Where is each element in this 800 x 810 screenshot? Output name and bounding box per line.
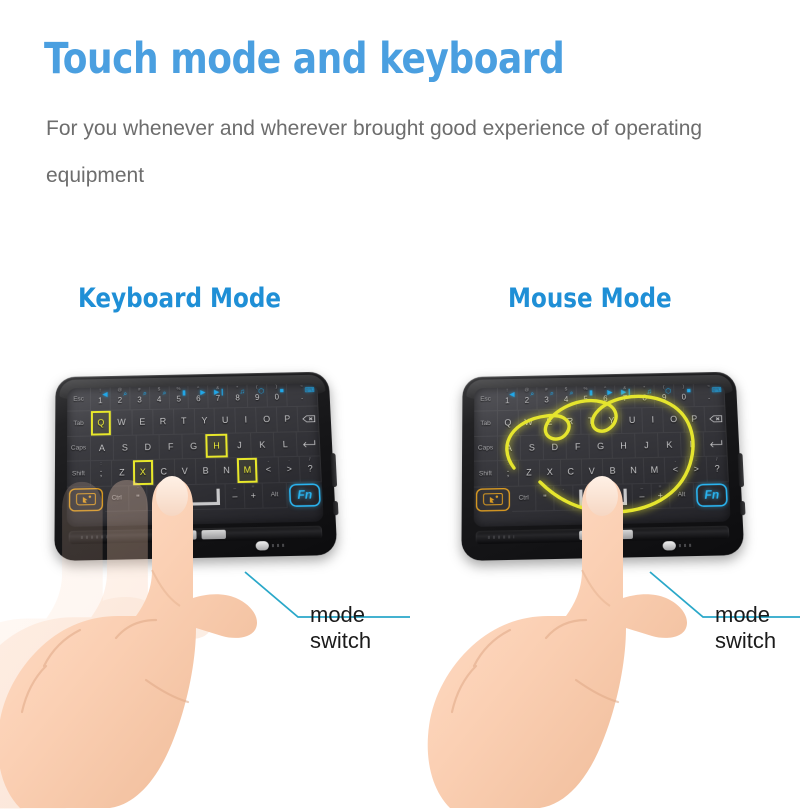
key-8[interactable]: *♫8 [635,385,655,409]
key-sup-label: _ [640,485,643,490]
key-space[interactable] [573,484,634,511]
key-l[interactable]: L [274,432,298,458]
key-o[interactable]: O [256,407,278,432]
keypad-surface[interactable]: Esc!◀1@⌕2#⌕3$⌕4%▮5^▶6&▶❙7*♫8(⬡9)■0~⌨.Tab… [474,383,731,527]
key-fn[interactable]: Fn [289,483,321,506]
key-z[interactable]: Z [112,460,133,486]
key-label: H [213,441,220,451]
key-ctrl[interactable]: Ctrl [512,486,536,512]
key-label: Z [119,468,125,478]
key-function-icon: ⌕ [530,391,534,398]
key-function-icon: ⌨ [305,387,315,394]
key-function-icon: ⌕ [162,390,166,397]
key--[interactable]: .> [686,457,708,483]
key-label: T [181,416,187,426]
key-r[interactable]: R [560,409,581,434]
key-sup-label: : [507,462,508,467]
key-sup-label: ) [683,385,685,389]
key-u[interactable]: U [215,408,236,433]
key-label: Fn [297,488,312,502]
key-1[interactable]: !◀1 [91,388,111,412]
key-label: 0 [681,393,686,402]
key-label: D [144,442,151,452]
keyboard-row-bottom-row: Ctrl'",._–=+AltFn [474,482,730,513]
key-label: Esc [480,396,491,403]
key--[interactable]: ~⌨. [287,383,319,407]
key-7[interactable]: &▶❙7 [615,385,635,409]
key-sup-label: ~ [707,385,710,389]
key-sup-label: * [643,386,645,390]
key-label: ? [307,464,312,474]
key-sup-label: , [156,486,157,491]
key-label: B [203,466,209,476]
key-sup-label: $ [158,387,161,391]
key-label: M [651,465,659,475]
key-backspace[interactable] [298,406,320,431]
key-w[interactable]: W [112,410,133,435]
key-sup-label: / [309,458,310,463]
callout-line-2: switch [715,628,776,654]
section-heading-keyboard-mode: Keyboard Mode [78,283,281,314]
key-label: R [567,417,574,427]
key-backspace[interactable] [705,406,727,431]
key-label: 5 [176,395,181,404]
key-label: E [546,417,552,427]
key-function-icon: ▮ [182,390,186,397]
key-y[interactable]: Y [601,409,622,434]
key-label: Z [526,468,532,478]
mode-switch-button[interactable] [663,541,677,550]
side-button-lower[interactable] [740,501,746,515]
key-function-icon: ◀ [509,391,514,398]
key-label: D [551,442,558,452]
key-shift[interactable]: Shift [474,461,498,487]
side-button-upper[interactable] [737,453,744,487]
left-click-button[interactable] [579,530,604,540]
key-enter[interactable] [297,431,321,457]
key--[interactable]: '" [536,485,555,511]
key--[interactable]: /? [300,456,322,482]
key-x[interactable]: X [540,460,561,486]
page-subtitle: For you whenever and wherever brought go… [46,105,746,199]
key-label: 3 [137,396,141,405]
key-sup-label: % [584,387,588,392]
key-sup-label: @ [524,388,529,393]
key-label: G [597,441,604,451]
key-u[interactable]: U [622,408,643,433]
key-g[interactable]: G [182,434,205,460]
key-label: O [670,415,677,425]
key--[interactable]: =+ [244,483,263,509]
key-k[interactable]: K [251,432,275,458]
key-label: G [190,441,197,451]
key-label: 4 [564,395,569,404]
key-label: W [524,417,532,427]
key-alt[interactable]: Alt [263,483,288,509]
key-sup-label: , [267,458,268,463]
key-label: . [708,392,711,401]
key-label: S [122,442,128,452]
key-label: 7 [623,394,628,403]
key-caps[interactable]: Caps [67,436,91,462]
key-4[interactable]: $⌕4 [150,386,170,410]
key-label: 7 [216,394,221,403]
key-t[interactable]: T [581,409,602,434]
key-s[interactable]: S [521,435,544,461]
key-h[interactable]: H [205,433,229,459]
key-f[interactable]: F [160,434,183,460]
key-function-icon: ■ [280,388,284,395]
key-k[interactable]: K [658,432,682,458]
key-space[interactable] [166,484,227,511]
key-sup-label: ' [137,487,138,492]
key-label: " [543,493,546,503]
page-title: Touch mode and keyboard [44,34,564,84]
key-2[interactable]: @⌕2 [110,387,130,411]
key-label: – [232,491,237,501]
product-infographic: Touch mode and keyboard For you whenever… [0,0,800,800]
key-function-icon: ⌨ [712,387,722,394]
key-sup-label: = [252,484,255,489]
key-label: V [182,466,188,476]
key-tab[interactable]: Tab [474,411,498,436]
mode-switch-button[interactable] [256,541,270,550]
key-sup-label: # [545,388,548,392]
key-label: S [529,442,535,452]
key-label: > [693,464,699,474]
key-function-icon: ⌕ [569,390,573,397]
key-label: 8 [642,394,647,403]
key-label: H [620,441,627,451]
key-sup-label: ! [100,389,101,393]
key-label: Esc [73,396,84,403]
side-button-upper[interactable] [330,453,337,487]
key-d[interactable]: D [544,435,567,461]
key-label: ; [100,468,103,478]
key-function-icon: ▶ [200,389,205,396]
key-sup-label: $ [565,387,568,391]
key-label: + [250,490,256,500]
key--[interactable]: :; [498,461,519,487]
key-label: + [657,490,663,500]
key-function-icon: ♫ [239,389,244,396]
key-label: C [567,467,574,477]
key-label: I [244,415,247,425]
key-0[interactable]: )■0 [674,384,694,408]
key-ctrl[interactable]: Ctrl [105,486,129,512]
key-sup-label: ~ [300,385,303,389]
key--[interactable]: '" [129,485,148,511]
key-label: 1 [98,396,102,405]
key-label: N [630,465,637,475]
key--[interactable]: ,. [148,485,167,511]
callout-line-1: mode [715,602,770,628]
key-x[interactable]: X [133,460,154,486]
key-q[interactable]: Q [91,411,112,436]
key-i[interactable]: I [643,408,665,433]
key--[interactable]: _– [226,483,245,509]
key-esc[interactable]: Esc [67,388,91,412]
key-label: O [263,415,270,425]
key-m[interactable]: M [237,458,259,484]
key-sup-label: ) [276,385,278,389]
key-w[interactable]: W [519,410,540,435]
key-label: " [136,493,139,503]
key-function-icon: ▮ [589,390,593,397]
key-7[interactable]: &▶❙7 [208,385,228,409]
key-label: N [223,465,230,475]
key-label: ? [714,464,719,474]
key-label: < [673,465,679,475]
key-m[interactable]: M [644,458,666,484]
speaker-dots [488,535,514,539]
key-label: L [690,439,695,449]
callout-line-2: switch [310,628,371,654]
key-i[interactable]: I [236,408,258,433]
key-label: 9 [662,393,667,402]
key-label: T [588,416,594,426]
key-label: Q [97,418,104,428]
key-t[interactable]: T [174,409,195,434]
key-label: J [644,440,649,450]
key-6[interactable]: ^▶6 [189,386,209,410]
key-label: Alt [271,491,279,498]
key-label: 4 [157,395,162,404]
key-label: A [506,443,512,453]
key-y[interactable]: Y [194,409,215,434]
key-enter[interactable] [704,431,728,457]
key-label: 1 [505,396,509,405]
key-label: W [117,417,125,427]
key-e[interactable]: E [539,410,560,435]
keypad-surface[interactable]: Esc!◀1@⌕2#⌕3$⌕4%▮5^▶6&▶❙7*♫8(⬡9)■0~⌨.Tab… [67,383,324,527]
key-sup-label: = [659,484,662,489]
key-o[interactable]: O [663,407,685,432]
key-touchpad[interactable] [69,488,103,511]
key-p[interactable]: P [277,407,299,432]
right-click-button[interactable] [608,530,633,540]
key--[interactable]: .> [279,457,301,483]
key-label: F [168,441,174,451]
key--[interactable]: =+ [651,483,670,509]
key-label: 6 [196,394,201,403]
key-function-icon: ⌕ [143,391,147,398]
key-function-icon: ⌕ [550,391,554,398]
device-body: Esc!◀1@⌕2#⌕3$⌕4%▮5^▶6&▶❙7*♫8(⬡9)■0~⌨.Tab… [461,372,744,561]
key--[interactable]: ,. [555,485,574,511]
key-g[interactable]: G [589,434,612,460]
mode-switch-vents [272,544,286,547]
key-sup-label: @ [117,388,122,393]
key-label: 2 [525,396,529,405]
key-sup-label: . [288,458,289,463]
mode-switch-vents [679,544,693,547]
key-a[interactable]: A [498,436,521,462]
key-label: L [283,439,288,449]
key-5[interactable]: %▮5 [169,386,189,410]
key-label: A [99,443,105,453]
key-sup-label: , [563,486,564,491]
key-label: X [140,467,146,477]
key-fn[interactable]: Fn [696,483,728,506]
keyboard-row-bottom-row: Ctrl'",._–=+AltFn [67,482,323,513]
key-label: P [691,414,697,424]
key-function-icon: ■ [687,388,691,395]
key-label: Q [504,418,511,428]
key-sup-label: * [236,386,238,390]
key-1[interactable]: !◀1 [498,388,518,412]
key-label: F [575,441,581,451]
key-j[interactable]: J [635,433,659,459]
key-p[interactable]: P [684,407,706,432]
key-label: X [547,467,553,477]
key-z[interactable]: Z [519,460,540,486]
key-d[interactable]: D [137,435,160,461]
key-label: Shift [479,470,492,477]
key-label: Y [201,416,207,426]
key-esc[interactable]: Esc [474,388,498,412]
key-6[interactable]: ^▶6 [596,386,616,410]
key-label: K [666,440,672,450]
key--[interactable]: ,< [665,457,687,483]
key-label: 3 [544,396,548,405]
key-r[interactable]: R [153,409,174,434]
key-label: M [244,465,252,475]
key-label: Alt [678,491,686,498]
key-label: V [589,466,595,476]
key-4[interactable]: $⌕4 [557,386,577,410]
left-click-button[interactable] [172,530,197,540]
key-label: > [286,464,292,474]
key-e[interactable]: E [132,410,153,435]
key-label: Tab [73,420,83,427]
side-button-lower[interactable] [333,501,339,515]
key-label: 5 [583,395,588,404]
key-sup-label: % [177,387,181,392]
key-label: K [259,440,265,450]
key-label: J [237,440,242,450]
key-label: U [629,415,636,425]
key-label: 8 [235,394,240,403]
key-h[interactable]: H [612,433,636,459]
key-q[interactable]: Q [498,411,519,436]
key-label: . [562,492,565,502]
key-sup-label: # [138,388,141,392]
key-function-icon: ⌕ [123,391,127,398]
key-0[interactable]: )■0 [267,384,287,408]
key-label: Fn [704,488,719,502]
key-tab[interactable]: Tab [67,411,91,436]
key-function-icon: ♫ [646,389,651,396]
key-s[interactable]: S [114,435,137,461]
key-label: Y [608,416,614,426]
key-sup-label: / [716,458,717,463]
key-2[interactable]: @⌕2 [517,387,537,411]
key-label: Ctrl [112,495,122,502]
key-label: . [155,492,158,502]
key-label: < [266,465,272,475]
key-label: Caps [71,445,86,452]
key-alt[interactable]: Alt [670,483,695,509]
key-j[interactable]: J [228,433,252,459]
key-label: 2 [118,396,122,405]
key-f[interactable]: F [567,434,590,460]
key-label: . [301,392,304,401]
key-l[interactable]: L [681,432,705,458]
speaker-dots [81,535,107,539]
key-sup-label: ^ [604,387,606,391]
key-sup-label: : [100,462,101,467]
key-5[interactable]: %▮5 [576,386,596,410]
section-heading-mouse-mode: Mouse Mode [508,283,672,314]
key-label: P [284,414,290,424]
callout-line-1: mode [310,602,365,628]
device-keyboard-mode: Esc!◀1@⌕2#⌕3$⌕4%▮5^▶6&▶❙7*♫8(⬡9)■0~⌨.Tab… [55,372,345,577]
key--[interactable]: :; [91,461,112,487]
key-label: 9 [255,393,260,402]
key-label: 6 [603,394,608,403]
key-touchpad[interactable] [476,488,510,511]
key-function-icon: ◀ [102,391,107,398]
key-label: Ctrl [519,495,529,502]
key-9[interactable]: (⬡9 [654,384,674,408]
key-label: Tab [480,420,490,427]
key-function-icon: ▶ [607,389,612,396]
key--[interactable]: _– [633,483,652,509]
key-label: ; [507,468,510,478]
key-label: E [139,417,145,427]
right-click-button[interactable] [201,530,226,540]
key-a[interactable]: A [91,436,114,462]
key-8[interactable]: *♫8 [228,385,248,409]
key-sup-label: . [695,458,696,463]
key-label: B [610,466,616,476]
key-label: – [639,491,644,501]
key-3[interactable]: #⌕3 [130,387,150,411]
key--[interactable]: ~⌨. [694,383,726,407]
key-sup-label: ^ [197,387,199,391]
key--[interactable]: ,< [258,457,280,483]
device-body: Esc!◀1@⌕2#⌕3$⌕4%▮5^▶6&▶❙7*♫8(⬡9)■0~⌨.Tab… [54,372,337,561]
key-sup-label: ' [544,487,545,492]
key-label: U [222,415,229,425]
key-sup-label: , [674,458,675,463]
key-label: C [160,467,167,477]
key-shift[interactable]: Shift [67,461,91,487]
key--[interactable]: /? [707,456,729,482]
key-label: Shift [72,470,85,477]
key-label: 0 [274,393,279,402]
key-caps[interactable]: Caps [474,436,498,462]
key-label: I [651,415,654,425]
key-9[interactable]: (⬡9 [247,384,267,408]
key-label: R [160,417,167,427]
key-sup-label: ! [507,389,508,393]
device-mouse-mode: Esc!◀1@⌕2#⌕3$⌕4%▮5^▶6&▶❙7*♫8(⬡9)■0~⌨.Tab… [462,372,752,577]
key-3[interactable]: #⌕3 [537,387,557,411]
key-label: Caps [478,445,493,452]
key-sup-label: _ [233,485,236,490]
